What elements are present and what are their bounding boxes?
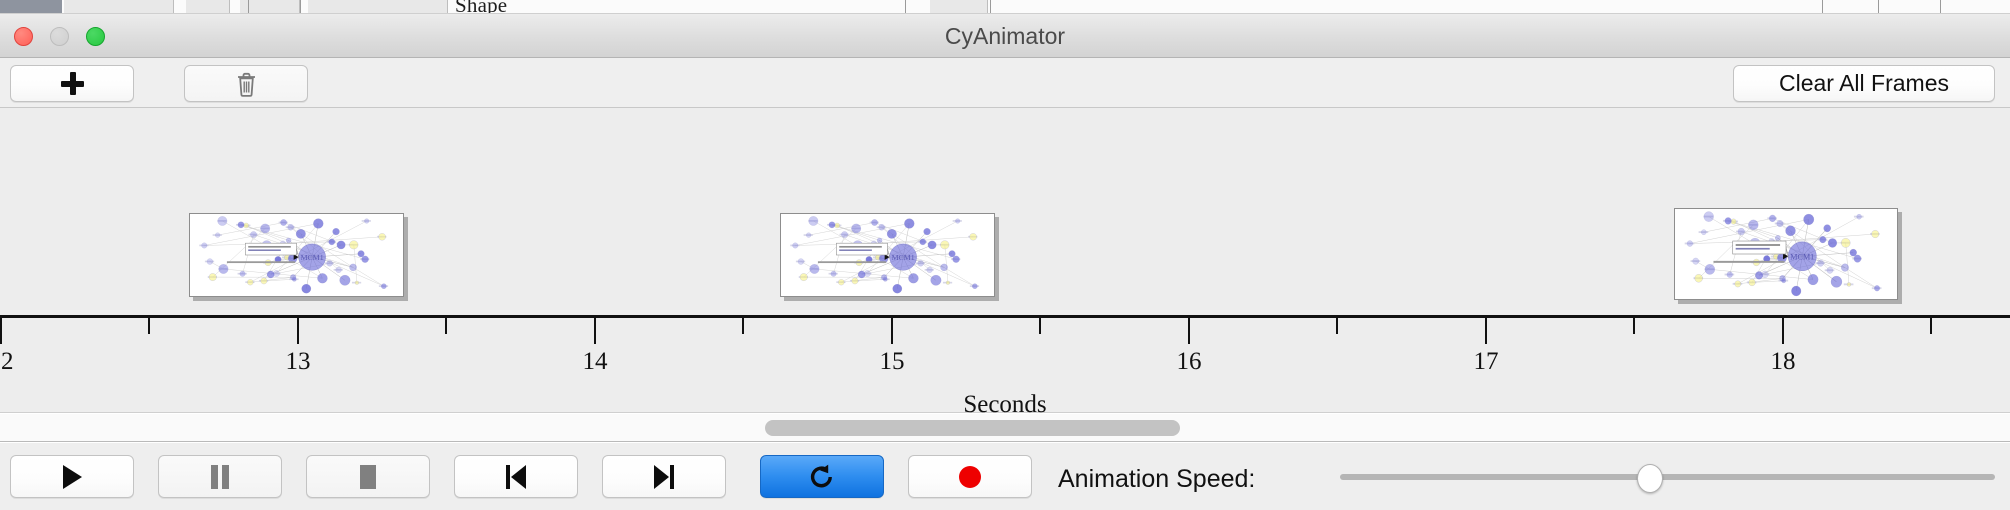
playback-control-bar: Animation Speed: (0, 443, 2010, 510)
plus-icon (61, 72, 84, 95)
loop-button[interactable] (760, 455, 884, 498)
background-chunk (930, 0, 988, 14)
pause-icon (209, 464, 231, 490)
timeline-panel: MCM1 MCM1 MCM1 12131415161718Seconds (0, 108, 2010, 413)
axis-tick (445, 318, 447, 334)
timeline-frame-thumbnail[interactable]: MCM1 (1674, 208, 1898, 300)
axis-tick-label: 17 (1474, 348, 1499, 376)
background-window-label: Shape (455, 0, 507, 14)
axis-tick (1930, 318, 1932, 334)
background-chunk (186, 0, 230, 14)
timeline-scrollbar[interactable] (0, 414, 2010, 442)
axis-tick-label: 18 (1771, 348, 1796, 376)
background-tick (905, 0, 906, 14)
background-tick (1940, 0, 1941, 14)
background-dark-chunk (0, 0, 62, 13)
background-chunk (308, 0, 448, 14)
slider-track[interactable] (1340, 474, 1995, 480)
axis-tick (891, 318, 893, 344)
toolbar: Clear All Frames (0, 58, 2010, 108)
axis-tick (0, 318, 2, 344)
skip-back-icon (503, 464, 529, 490)
skip-to-start-button[interactable] (454, 455, 578, 498)
trash-icon (236, 72, 256, 96)
play-button[interactable] (10, 455, 134, 498)
background-chunk (64, 0, 174, 14)
background-tick (990, 0, 991, 14)
background-tick (300, 0, 301, 14)
axis-tick (742, 318, 744, 334)
timeline-frame-thumbnail[interactable]: MCM1 (189, 213, 404, 297)
scrollbar-thumb[interactable] (765, 420, 1180, 436)
axis-line (0, 315, 2010, 318)
axis-tick-label: 13 (286, 348, 311, 376)
axis-tick (297, 318, 299, 344)
slider-thumb[interactable] (1637, 464, 1663, 493)
animation-speed-slider[interactable] (1340, 455, 1995, 498)
axis-tick-label: 15 (880, 348, 905, 376)
cyanimator-window: Shape CyAnimator Clear All Frames (0, 0, 2010, 510)
axis-tick (594, 318, 596, 344)
axis-tick (1782, 318, 1784, 344)
record-icon (957, 464, 983, 490)
axis-tick (1485, 318, 1487, 344)
record-button[interactable] (908, 455, 1032, 498)
loop-icon (808, 463, 836, 491)
background-window-strip: Shape (0, 0, 2010, 14)
window-title: CyAnimator (0, 14, 2010, 58)
stop-icon (356, 464, 380, 490)
frames-track[interactable]: MCM1 MCM1 MCM1 (0, 108, 2010, 311)
background-chunk (240, 0, 300, 14)
axis-tick (1633, 318, 1635, 334)
play-icon (60, 464, 84, 490)
title-bar: CyAnimator (0, 14, 2010, 58)
axis-tick-label: 12 (0, 348, 14, 376)
skip-to-end-button[interactable] (602, 455, 726, 498)
axis-tick (1039, 318, 1041, 334)
stop-button[interactable] (306, 455, 430, 498)
axis-tick-label: 14 (583, 348, 608, 376)
delete-frame-button[interactable] (184, 65, 308, 102)
timeline-axis: 12131415161718Seconds (0, 311, 2010, 413)
animation-speed-label: Animation Speed: (1058, 465, 1255, 494)
timeline-frame-thumbnail[interactable]: MCM1 (780, 213, 995, 297)
background-tick (248, 0, 249, 14)
axis-tick (148, 318, 150, 334)
clear-all-frames-button[interactable]: Clear All Frames (1733, 65, 1995, 102)
background-tick (1822, 0, 1823, 14)
axis-tick-label: 16 (1177, 348, 1202, 376)
axis-tick (1336, 318, 1338, 334)
skip-forward-icon (651, 464, 677, 490)
axis-tick (1188, 318, 1190, 344)
background-tick (1878, 0, 1879, 14)
add-frame-button[interactable] (10, 65, 134, 102)
pause-button[interactable] (158, 455, 282, 498)
